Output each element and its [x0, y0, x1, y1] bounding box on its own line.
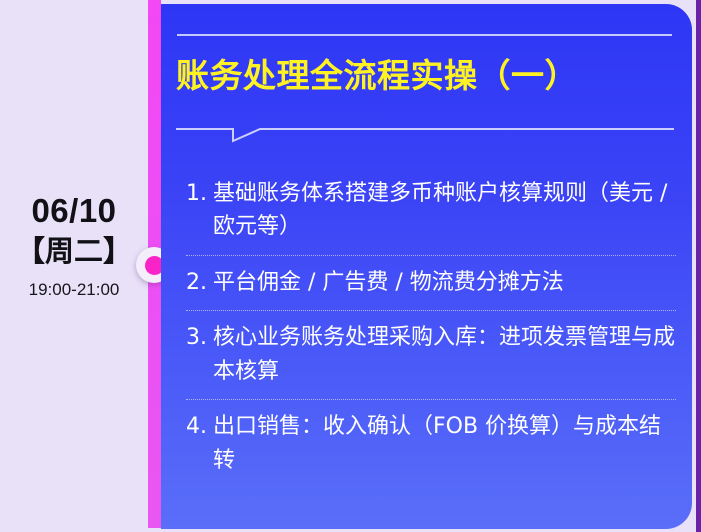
agenda-item-text: 核心业务账务处理采购入库：进项发票管理与成本核算 — [213, 321, 676, 388]
title-rule-bottom-with-notch — [176, 116, 674, 144]
date-block: 06/10 【周二】 19:00-21:00 — [0, 190, 148, 300]
agenda-item-number: 4. — [186, 410, 213, 443]
right-edge-strip — [696, 0, 701, 532]
agenda-item: 3. 核心业务账务处理采购入库：进项发票管理与成本核算 — [186, 311, 676, 399]
date-time-range: 19:00-21:00 — [0, 280, 148, 300]
agenda-item-number: 2. — [186, 266, 213, 299]
session-panel: 账务处理全流程实操（一） 1. 基础账务体系搭建多币种账户核算规则（美元 / 欧… — [161, 4, 692, 529]
agenda-item: 4. 出口销售：收入确认（FOB 价换算）与成本结转 — [186, 400, 676, 488]
notch-rule-icon — [176, 116, 674, 144]
agenda-item-text: 平台佣金 / 广告费 / 物流费分摊方法 — [213, 266, 676, 299]
agenda-item-text: 出口销售：收入确认（FOB 价换算）与成本结转 — [213, 410, 676, 477]
title-rule-top — [177, 34, 672, 36]
date-weekday: 【周二】 — [0, 233, 148, 271]
agenda-list: 1. 基础账务体系搭建多币种账户核算规则（美元 / 欧元等） 2. 平台佣金 /… — [186, 167, 676, 488]
agenda-item: 1. 基础账务体系搭建多币种账户核算规则（美元 / 欧元等） — [186, 167, 676, 255]
panel-title: 账务处理全流程实操（一） — [176, 56, 676, 96]
schedule-card: 06/10 【周二】 19:00-21:00 账务处理全流程实操（一） 1. 基… — [0, 0, 701, 532]
agenda-item-number: 3. — [186, 321, 213, 354]
agenda-item: 2. 平台佣金 / 广告费 / 物流费分摊方法 — [186, 256, 676, 310]
agenda-item-text: 基础账务体系搭建多币种账户核算规则（美元 / 欧元等） — [213, 177, 676, 244]
date-day: 06/10 — [0, 190, 148, 231]
date-column: 06/10 【周二】 19:00-21:00 — [0, 0, 148, 532]
agenda-item-number: 1. — [186, 177, 213, 210]
